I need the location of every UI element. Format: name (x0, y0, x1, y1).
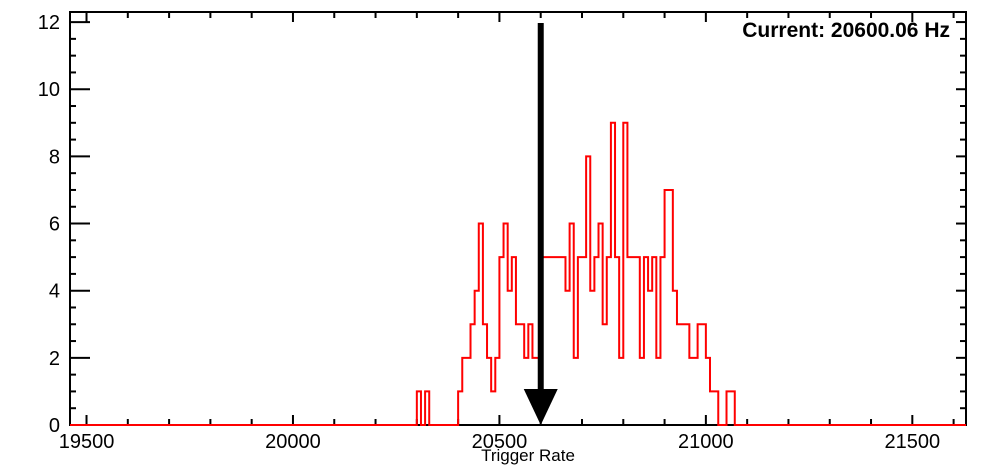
x-tick-label: 19500 (59, 431, 115, 453)
current-rate-readout: Current: 20600.06 Hz (742, 19, 950, 42)
y-tick-label: 12 (38, 12, 60, 34)
current-value-marker (524, 23, 558, 425)
y-tick-label: 8 (49, 146, 60, 168)
x-tick-label: 21500 (885, 431, 941, 453)
y-tick-label: 6 (49, 214, 60, 236)
x-tick-label: 21000 (678, 431, 734, 453)
x-tick-label: 20000 (265, 431, 321, 453)
histogram-plot: 1950020000205002100021500024681012 Curre… (0, 0, 996, 472)
axes-group (70, 12, 966, 425)
root-canvas: 1950020000205002100021500024681012 Curre… (0, 0, 996, 472)
plot-frame (70, 12, 966, 425)
y-tick-label: 2 (49, 348, 60, 370)
histogram-outline (70, 123, 966, 425)
axis-labels-group: 1950020000205002100021500024681012 (38, 12, 940, 453)
y-tick-label: 4 (49, 281, 60, 303)
y-tick-label: 10 (38, 79, 60, 101)
marker-arrowhead-icon (524, 389, 558, 425)
x-axis-title: Trigger Rate (481, 446, 575, 465)
y-tick-label: 0 (49, 415, 60, 437)
histogram-series (70, 123, 966, 425)
